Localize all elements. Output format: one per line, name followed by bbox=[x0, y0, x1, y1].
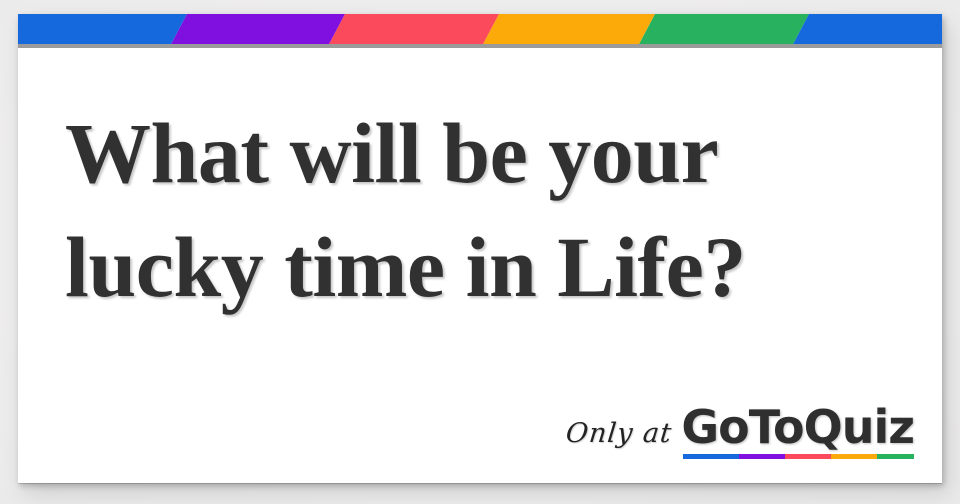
underline-segment-purple bbox=[739, 454, 785, 459]
ribbon-segment-green bbox=[638, 14, 810, 44]
underline-segment-orange bbox=[831, 454, 877, 459]
underline-segment-red bbox=[785, 454, 831, 459]
underline-segment-blue bbox=[683, 454, 738, 459]
page-title: What will be your lucky time in Life? bbox=[65, 96, 895, 324]
rainbow-ribbon bbox=[18, 14, 942, 44]
brand-credit: Only at GoToQuiz bbox=[566, 404, 914, 459]
underline-segment-green bbox=[877, 454, 914, 459]
only-at-label: Only at bbox=[565, 420, 674, 447]
ribbon-segment-orange bbox=[482, 14, 656, 44]
gotoquiz-logo[interactable]: GoToQuiz bbox=[681, 404, 914, 459]
ribbon-segment-purple bbox=[170, 14, 346, 44]
brand-underline-bar bbox=[683, 454, 914, 459]
ribbon-segment-red bbox=[328, 14, 500, 44]
gotoquiz-wordmark: GoToQuiz bbox=[681, 404, 914, 450]
ribbon-segment-blue2 bbox=[792, 14, 942, 44]
quiz-title-card: What will be your lucky time in Life? On… bbox=[18, 14, 942, 483]
page-background: What will be your lucky time in Life? On… bbox=[0, 0, 960, 504]
ribbon-segment-blue bbox=[18, 14, 188, 44]
ribbon-divider-rule bbox=[18, 44, 942, 48]
